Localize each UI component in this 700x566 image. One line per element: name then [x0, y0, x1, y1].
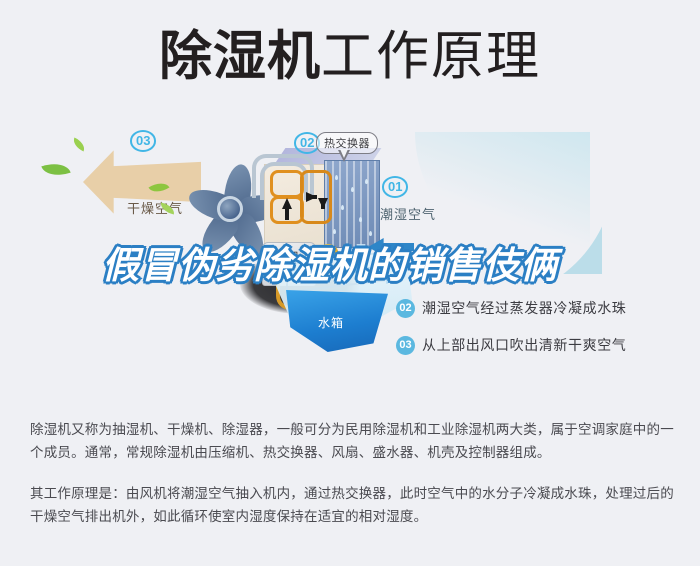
water-droplet-icon [335, 175, 338, 180]
legend-item: 03 从上部出风口吹出清新干爽空气 [396, 335, 626, 355]
legend-badge-03: 03 [396, 336, 415, 355]
water-droplet-icon [359, 217, 362, 222]
water-droplet-icon [369, 231, 372, 236]
page-title-light: 工作原理 [321, 27, 541, 86]
water-droplet-icon [341, 205, 344, 210]
marker-03: 03 [130, 130, 156, 152]
page-title: 除湿机工作原理 [0, 26, 700, 88]
moist-air-label: 潮湿空气 [380, 204, 436, 223]
legend-text-03: 从上部出风口吹出清新干爽空气 [422, 335, 626, 355]
page-title-bold: 除湿机 [159, 27, 321, 86]
evaporator-fins [324, 160, 380, 248]
diagram-legend: 02 潮湿空气经过蒸发器冷凝成水珠 03 从上部出风口吹出清新干爽空气 [396, 298, 626, 372]
callout-pointer-icon [338, 150, 350, 162]
fan-hub [217, 196, 243, 222]
marker-01-number: 01 [382, 176, 408, 198]
marker-01: 01 [382, 176, 408, 198]
legend-item: 02 潮湿空气经过蒸发器冷凝成水珠 [396, 298, 626, 318]
dehumidifier-infographic-page: { "title": { "bold_part": "除湿机", "light_… [0, 0, 700, 566]
dry-air-label: 干燥空气 [127, 198, 183, 217]
legend-text-02: 潮湿空气经过蒸发器冷凝成水珠 [422, 298, 626, 318]
airflow-arrow-down-icon [318, 198, 328, 209]
airflow-arrow-right-icon [306, 192, 317, 202]
description-paragraph-1: 除湿机又称为抽湿机、干燥机、除湿器，一般可分为民用除湿机和工业除湿机两大类，属于… [30, 418, 674, 464]
condenser-coil [270, 170, 304, 198]
leaf-icon [41, 158, 70, 180]
water-tank-label: 水箱 [318, 314, 344, 331]
water-droplet-icon [351, 187, 354, 192]
leaf-icon [71, 138, 87, 152]
water-droplet-icon [333, 229, 336, 234]
legend-badge-02: 02 [396, 299, 415, 318]
airflow-arrow-up-icon [282, 198, 292, 209]
description-paragraph-2: 其工作原理是：由风机将潮湿空气抽入机内，通过热交换器，此时空气中的水分子冷凝成水… [30, 482, 674, 528]
marker-03-number: 03 [130, 130, 156, 152]
description-block: 除湿机又称为抽湿机、干燥机、除湿器，一般可分为民用除湿机和工业除湿机两大类，属于… [30, 418, 674, 546]
overlay-headline: 假冒伪劣除湿机的销售伎俩 [102, 246, 622, 286]
water-droplet-icon [365, 179, 368, 184]
